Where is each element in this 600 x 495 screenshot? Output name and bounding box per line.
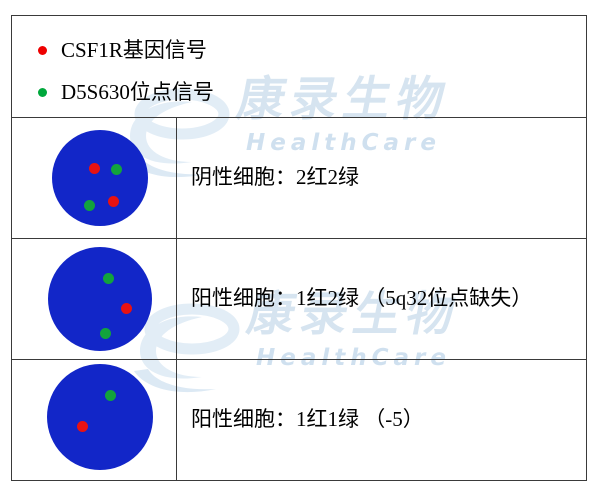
legend-item-label: CSF1R基因信号 xyxy=(61,40,207,61)
legend-item-d5s630: D5S630位点信号 xyxy=(12,71,586,113)
red-dot-icon xyxy=(38,46,47,55)
legend-row: CSF1R基因信号 D5S630位点信号 xyxy=(12,16,587,118)
nucleus-cell xyxy=(12,118,177,239)
red-signal-dot xyxy=(89,163,100,174)
nucleus-diagram xyxy=(12,360,177,480)
nucleus-circle xyxy=(47,364,153,470)
green-signal-dot xyxy=(111,164,122,175)
table-row: 阳性细胞：1红2绿 （5q32位点缺失） xyxy=(12,239,587,360)
row-description: 阴性细胞：2红2绿 xyxy=(177,165,586,190)
nucleus-circle xyxy=(52,130,148,226)
green-dot-icon xyxy=(38,88,47,97)
legend-cell: CSF1R基因信号 D5S630位点信号 xyxy=(12,16,587,118)
nucleus-cell xyxy=(12,360,177,481)
red-signal-dot xyxy=(108,196,119,207)
red-signal-dot xyxy=(77,421,88,432)
legend-item-csf1r: CSF1R基因信号 xyxy=(12,20,586,71)
fish-signal-table: CSF1R基因信号 D5S630位点信号 阴性细胞：2红2绿 xyxy=(11,15,587,481)
table-row: 阳性细胞：1红1绿 （-5） xyxy=(12,360,587,481)
description-cell: 阳性细胞：1红2绿 （5q32位点缺失） xyxy=(177,239,587,360)
nucleus-diagram xyxy=(12,239,177,359)
red-signal-dot xyxy=(121,303,132,314)
row-description: 阳性细胞：1红1绿 （-5） xyxy=(177,407,586,432)
legend-item-label: D5S630位点信号 xyxy=(61,82,214,103)
description-cell: 阳性细胞：1红1绿 （-5） xyxy=(177,360,587,481)
table-row: 阴性细胞：2红2绿 xyxy=(12,118,587,239)
green-signal-dot xyxy=(105,390,116,401)
green-signal-dot xyxy=(84,200,95,211)
row-description: 阳性细胞：1红2绿 （5q32位点缺失） xyxy=(177,286,586,311)
green-signal-dot xyxy=(103,273,114,284)
green-signal-dot xyxy=(100,328,111,339)
nucleus-cell xyxy=(12,239,177,360)
nucleus-diagram xyxy=(12,118,177,238)
description-cell: 阴性细胞：2红2绿 xyxy=(177,118,587,239)
